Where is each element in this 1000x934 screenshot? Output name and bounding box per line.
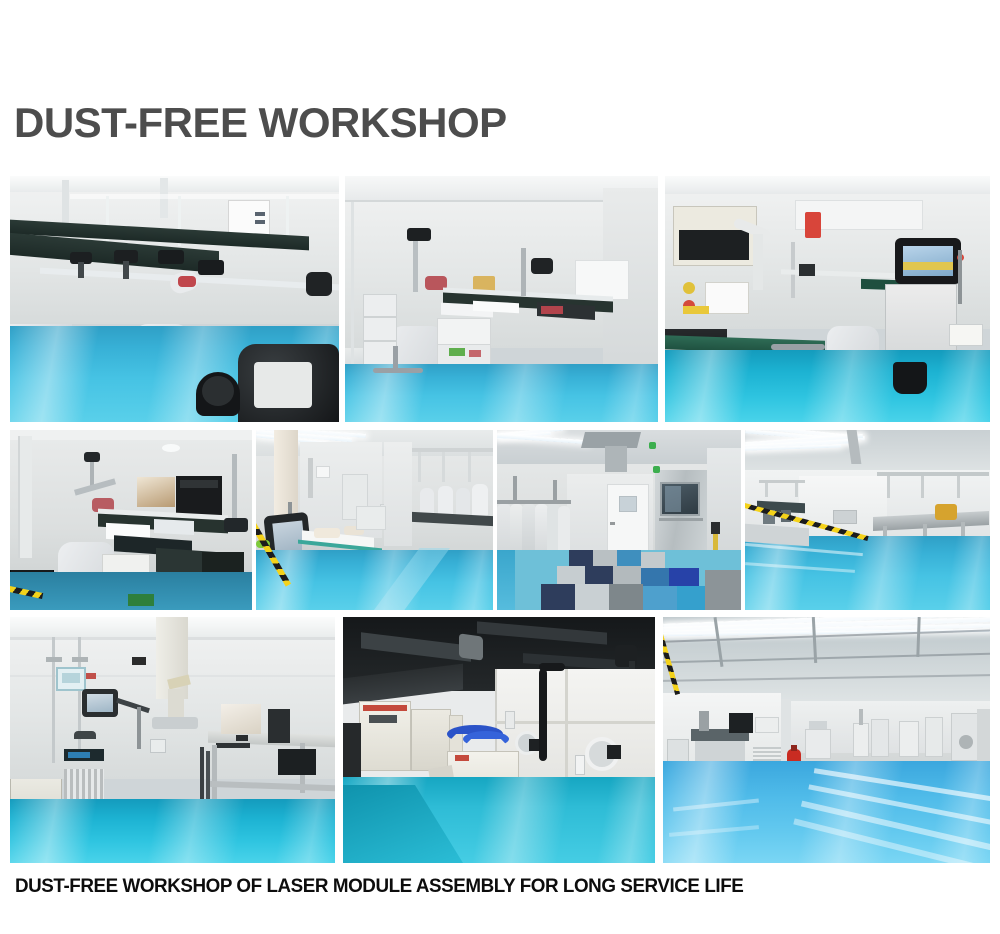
gallery-photo-5[interactable]: Cleanroom corridor view with andon stack… — [256, 430, 493, 610]
gallery-photo-2[interactable]: Technician in white bunny suit at laser … — [345, 176, 658, 422]
photo-gallery: Cleanroom optical assembly line: technic… — [0, 0, 1000, 934]
gallery-photo-10[interactable]: Wide open dust-free workshop with long r… — [663, 617, 990, 863]
gallery-photo-6[interactable]: Gowning room with rack of hanging white … — [497, 430, 741, 610]
gallery-photo-8[interactable]: Laser welding workstation: water chiller… — [10, 617, 335, 863]
page-root: DUST-FREE WORKSHOP — [0, 0, 1000, 934]
gallery-photo-9[interactable]: Mechanical utility room with HEPA air ha… — [343, 617, 655, 863]
gallery-photo-1[interactable]: Cleanroom optical assembly line: technic… — [10, 176, 339, 422]
bottom-caption: DUST-FREE WORKSHOP OF LASER MODULE ASSEM… — [15, 875, 743, 898]
gallery-photo-4[interactable]: Close-up of operator in white cleanroom … — [10, 430, 252, 610]
gallery-photo-7[interactable]: Empty production hall with rows of green… — [745, 430, 990, 610]
gallery-photo-3[interactable]: Laser module test bay with process chill… — [665, 176, 990, 422]
